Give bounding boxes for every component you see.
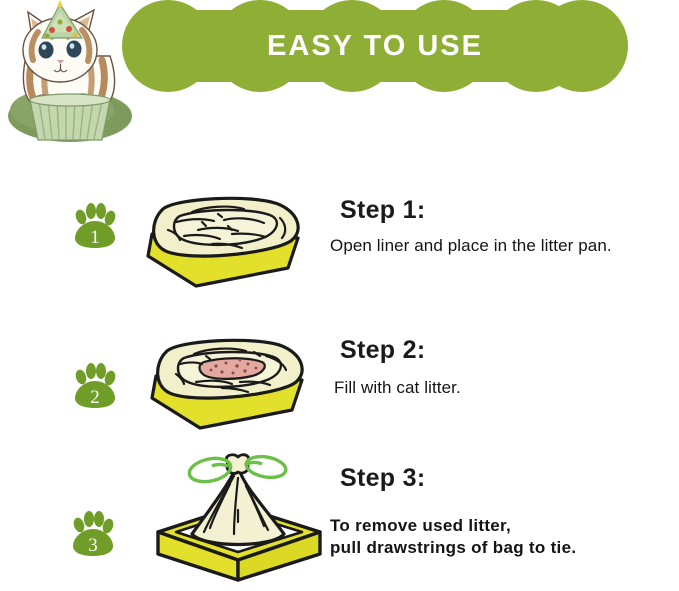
paw-number-1: 1 <box>90 227 100 248</box>
step-2-text-block: Step 2: Fill with cat litter. <box>330 336 675 399</box>
litter-pan-filled-illustration <box>136 332 322 436</box>
step-2-description: Fill with cat litter. <box>334 377 675 399</box>
cupcake-wrapper <box>30 94 110 140</box>
tied-bag-in-pan-illustration <box>142 450 332 582</box>
litter-pan-open-liner-illustration <box>132 190 318 294</box>
paw-number-2: 2 <box>90 387 100 408</box>
step-1-description: Open liner and place in the litter pan. <box>330 235 675 257</box>
step-row-3: 3 Step 3: To rem <box>0 450 679 590</box>
header-banner: EASY TO USE <box>0 0 679 160</box>
paw-badge-3: 3 <box>70 510 116 558</box>
step-3-heading: Step 3: <box>340 464 675 493</box>
paw-badge-2: 2 <box>72 362 118 410</box>
banner-title: EASY TO USE <box>122 0 628 92</box>
step-row-1: 1 Step 1: Open liner and place in the li… <box>0 190 679 310</box>
step-3-description: To remove used litter, pull drawstrings … <box>330 515 675 559</box>
paw-number-3: 3 <box>88 535 98 556</box>
paw-badge-1: 1 <box>72 202 118 250</box>
step-2-desc-line-1: Fill with cat litter. <box>334 377 675 399</box>
cat-mascot-illustration <box>2 0 142 148</box>
step-3-desc-line-1: To remove used litter, <box>330 515 675 537</box>
step-row-2: 2 Step 2: Fill with cat <box>0 330 679 450</box>
step-3-desc-line-2: pull drawstrings of bag to tie. <box>330 537 675 559</box>
step-1-desc-line-1: Open liner and place in the litter pan. <box>330 235 675 257</box>
step-2-heading: Step 2: <box>340 336 675 365</box>
step-3-text-block: Step 3: To remove used litter, pull draw… <box>330 464 675 559</box>
step-1-text-block: Step 1: Open liner and place in the litt… <box>330 196 675 257</box>
step-1-heading: Step 1: <box>340 196 675 225</box>
